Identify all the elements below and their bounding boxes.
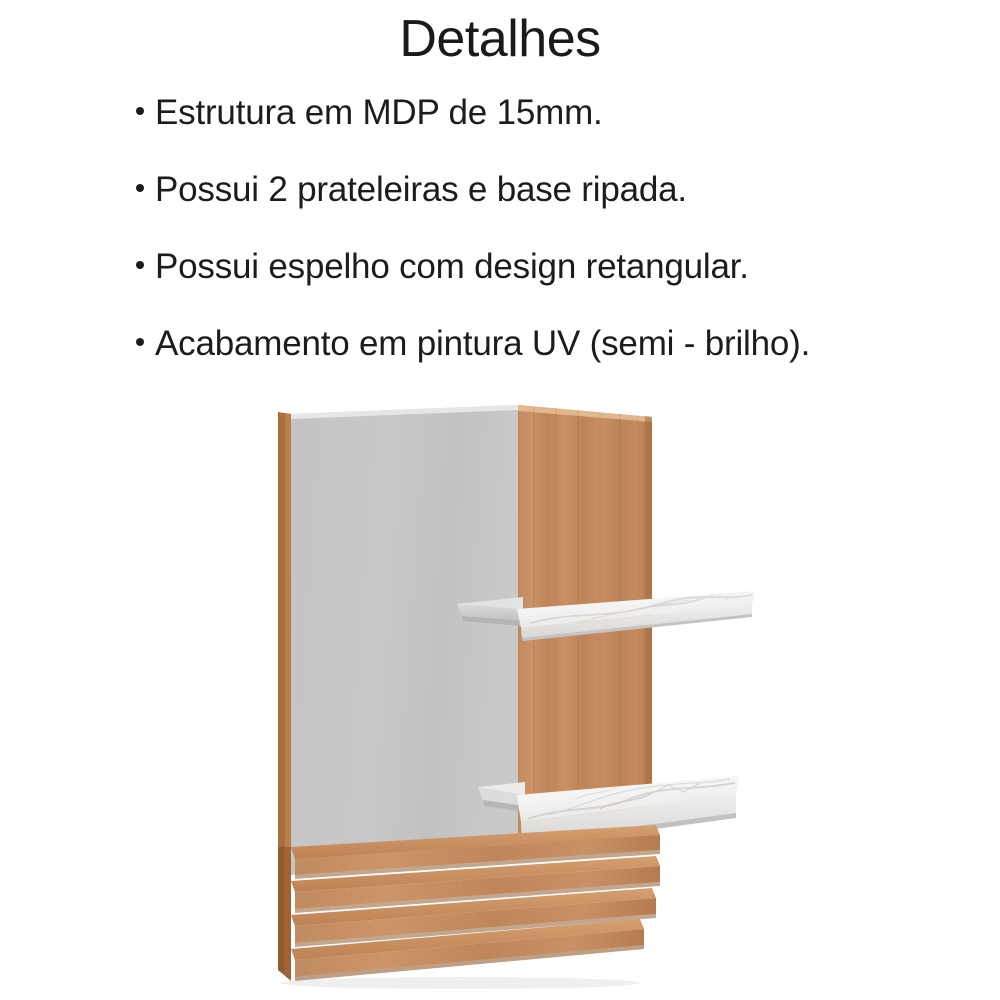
- bullet-icon: [136, 184, 144, 192]
- feature-text: Estrutura em MDP de 15mm.: [155, 93, 603, 132]
- features-list: Estrutura em MDP de 15mm. Possui 2 prate…: [136, 92, 936, 400]
- bullet-icon: [136, 107, 144, 115]
- page-title: Detalhes: [0, 8, 1000, 70]
- bullet-icon: [136, 261, 144, 269]
- product-image: [0, 395, 1000, 995]
- base-left-side-shade: [278, 847, 284, 973]
- list-item: Estrutura em MDP de 15mm.: [136, 92, 936, 169]
- list-item: Possui 2 prateleiras e base ripada.: [136, 169, 936, 246]
- feature-text: Possui 2 prateleiras e base ripada.: [155, 170, 687, 209]
- bullet-icon: [136, 338, 144, 346]
- list-item: Possui espelho com design retangular.: [136, 246, 936, 323]
- product-details-page: Detalhes Estrutura em MDP de 15mm. Possu…: [0, 0, 1000, 1000]
- feature-text: Acabamento em pintura UV (semi - brilho)…: [155, 324, 810, 363]
- feature-text: Possui espelho com design retangular.: [155, 247, 749, 286]
- ground-shadow: [280, 977, 640, 989]
- product-illustration: [0, 395, 1000, 995]
- list-item: Acabamento em pintura UV (semi - brilho)…: [136, 323, 936, 400]
